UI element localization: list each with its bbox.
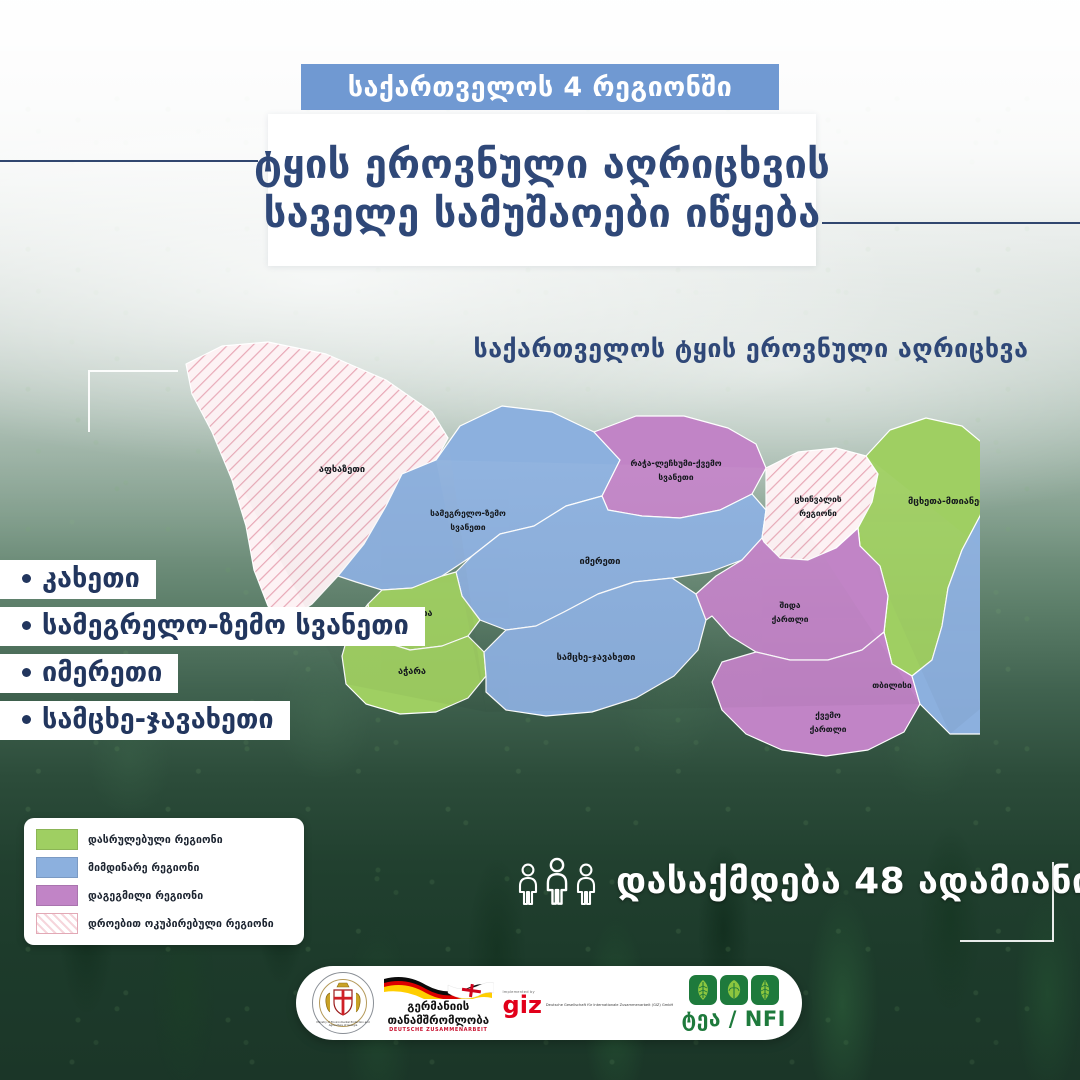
decorative-rule-left <box>0 160 258 162</box>
german-cooperation-logo: გერმანიის თანამშრომლობა DEUTSCHE ZUSAMME… <box>382 973 494 1032</box>
legend-label: დასრულებული რეგიონი <box>88 834 223 846</box>
svg-text:აფხაზეთი: აფხაზეთი <box>319 464 365 475</box>
header-title-line-2: საველე სამუშაოები იწყება <box>264 193 821 236</box>
list-item-label: კახეთი <box>42 563 140 594</box>
german-logo-line1: გერმანიის <box>407 1000 469 1012</box>
list-item: კახეთი <box>0 560 156 599</box>
decorative-rule-right <box>822 222 1080 224</box>
giz-wordmark: giz <box>503 995 542 1017</box>
list-item-label: სამეგრელო-ზემო სვანეთი <box>42 610 409 641</box>
legend-item: დაგეგმილი რეგიონი <box>36 885 292 906</box>
list-item: იმერეთი <box>0 654 178 693</box>
german-logo-line2: თანამშრომლობა <box>387 1014 489 1026</box>
target-regions-list: კახეთი სამეგრელო-ზემო სვანეთი იმერეთი სა… <box>0 560 425 740</box>
legend-swatch-completed <box>36 829 78 850</box>
legend-label: დაგეგმილი რეგიონი <box>88 890 203 902</box>
svg-text:იმერეთი: იმერეთი <box>580 556 621 567</box>
list-item-label: სამცხე-ჯავახეთი <box>42 704 274 735</box>
employment-callout: დასაქმდება 48 ადამიანი <box>516 856 1080 906</box>
svg-text:რაჭა-ლეჩხუმი-ქვემო: რაჭა-ლეჩხუმი-ქვემო <box>630 458 721 468</box>
bullet-dot-icon <box>22 715 31 724</box>
list-item: სამცხე-ჯავახეთი <box>0 701 290 740</box>
legend-swatch-planned <box>36 885 78 906</box>
bullet-dot-icon <box>22 621 31 630</box>
person-icon <box>543 856 571 906</box>
person-icon <box>516 862 540 906</box>
svg-text:სამცხე-ჯავახეთი: სამცხე-ჯავახეთი <box>557 652 636 663</box>
nfi-logo: ტეა / NFI <box>681 975 786 1031</box>
ministry-emblem-icon: Ministry of Environmental Protection and… <box>312 972 374 1034</box>
ministry-logo: Ministry of Environmental Protection and… <box>312 972 374 1034</box>
nfi-leaf-icons <box>689 975 779 1005</box>
leaf-icon <box>751 975 779 1005</box>
legend-swatch-occupied <box>36 913 78 934</box>
legend-label: დროებით ოკუპირებული რეგიონი <box>88 918 274 930</box>
person-icon <box>574 862 598 906</box>
german-georgian-flag-icon <box>382 973 494 999</box>
legend-item: დასრულებული რეგიონი <box>36 829 292 850</box>
employment-text: დასაქმდება 48 ადამიანი <box>616 861 1080 902</box>
svg-text:ცხინვალის: ცხინვალის <box>794 494 842 504</box>
svg-text:ქვემო: ქვემო <box>815 710 841 720</box>
legend-item: მიმდინარე რეგიონი <box>36 857 292 878</box>
bullet-dot-icon <box>22 668 31 677</box>
svg-text:ქართლი: ქართლი <box>810 724 847 734</box>
list-item: სამეგრელო-ზემო სვანეთი <box>0 607 425 646</box>
giz-logo: Implemented by giz Deutsche Gesellschaft… <box>503 990 674 1017</box>
svg-text:ქართლი: ქართლი <box>772 614 809 624</box>
svg-text:რეგიონი: რეგიონი <box>799 508 837 518</box>
nfi-label: ტეა / NFI <box>681 1007 786 1031</box>
legend-item: დროებით ოკუპირებული რეგიონი <box>36 913 292 934</box>
legend-label: მიმდინარე რეგიონი <box>88 862 200 874</box>
header-badge: საქართველოს 4 რეგიონში <box>301 64 779 110</box>
svg-text:მცხეთა-მთიანეთი: მცხეთა-მთიანეთი <box>908 496 980 507</box>
header-title-line-1: ტყის ეროვნული აღრიცხვის <box>254 144 830 187</box>
header-panel: ტყის ეროვნული აღრიცხვის საველე სამუშაოებ… <box>268 114 816 266</box>
legend-swatch-ongoing <box>36 857 78 878</box>
infographic-page: საქართველოს 4 რეგიონში ტყის ეროვნული აღრ… <box>0 0 1080 1080</box>
giz-subtitle: Deutsche Gesellschaft für Internationale… <box>546 1003 673 1008</box>
svg-text:სვანეთი: სვანეთი <box>658 472 693 482</box>
ministry-caption: Ministry of Environmental Protection and… <box>312 1021 374 1027</box>
german-logo-line3: DEUTSCHE ZUSAMMENARBEIT <box>389 1027 487 1033</box>
list-item-label: იმერეთი <box>42 657 162 688</box>
leaf-icon <box>689 975 717 1005</box>
leaf-icon <box>720 975 748 1005</box>
svg-text:თბილისი: თბილისი <box>872 680 912 690</box>
map-legend: დასრულებული რეგიონი მიმდინარე რეგიონი და… <box>24 818 304 945</box>
svg-text:სამეგრელო-ზემო: სამეგრელო-ზემო <box>430 508 506 518</box>
svg-text:სვანეთი: სვანეთი <box>450 522 485 532</box>
svg-text:შიდა: შიდა <box>780 600 801 610</box>
people-icon <box>516 856 598 906</box>
footer-logo-bar: Ministry of Environmental Protection and… <box>296 966 802 1040</box>
bullet-dot-icon <box>22 574 31 583</box>
